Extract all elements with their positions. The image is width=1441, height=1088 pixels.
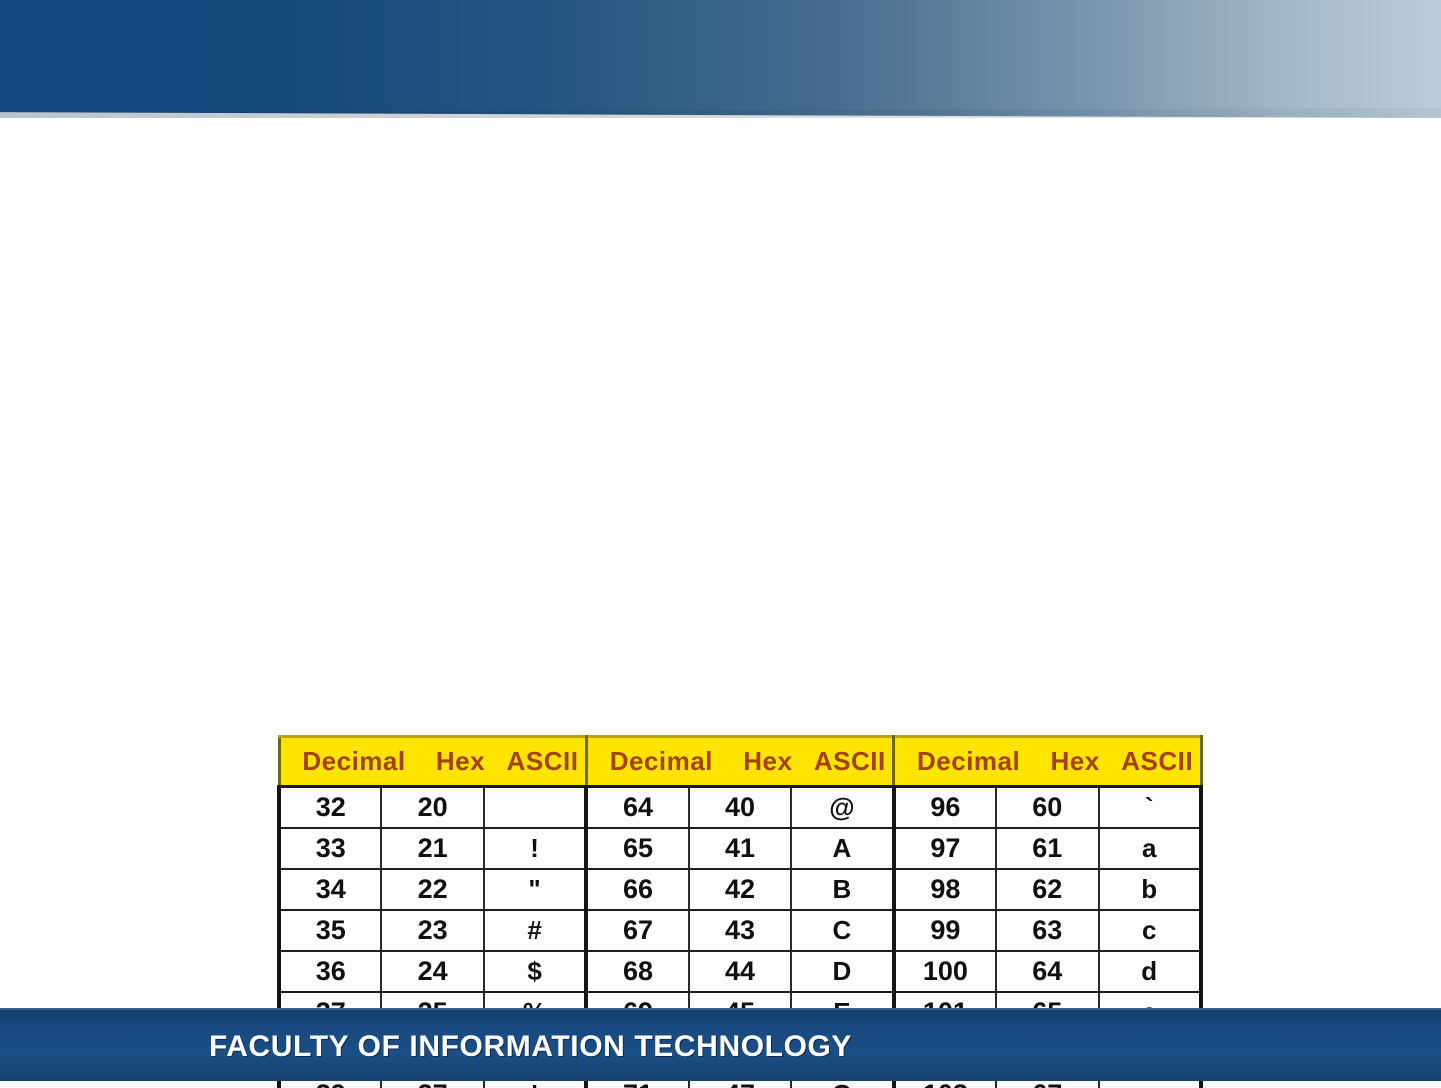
cell-block2-hex: 43: [689, 910, 791, 951]
block-3-header-decimal: Decimal: [895, 746, 1042, 777]
cell-block1-ascii: #: [484, 910, 586, 951]
block-3-header: DecimalHexASCII: [894, 737, 1201, 787]
cell-block3-hex: 64: [996, 951, 1098, 992]
cell-block1-decimal: 33: [279, 828, 381, 869]
block-2-header-ascii: ASCII: [801, 746, 899, 777]
cell-block1-hex: 22: [381, 869, 483, 910]
cell-block1-hex: 23: [381, 910, 483, 951]
block-1-header-decimal: Decimal: [281, 746, 428, 777]
cell-block3-hex: 63: [996, 910, 1098, 951]
cell-block2-ascii: B: [791, 869, 893, 910]
cell-block2-decimal: 67: [586, 910, 688, 951]
cell-block2-hex: 41: [689, 828, 791, 869]
cell-block3-ascii: d: [1099, 951, 1202, 992]
table-row: 3624$6844D10064d: [279, 951, 1201, 992]
cell-block1-hex: 24: [381, 951, 483, 992]
cell-block1-decimal: 32: [279, 787, 381, 829]
cell-block1-hex: 20: [381, 787, 483, 829]
cell-block1-ascii: ": [484, 869, 586, 910]
cell-block1-decimal: 35: [279, 910, 381, 951]
cell-block2-hex: 40: [689, 787, 791, 829]
cell-block3-decimal: 98: [894, 869, 996, 910]
cell-block2-decimal: 66: [586, 869, 688, 910]
cell-block2-decimal: 68: [586, 951, 688, 992]
cell-block3-hex: 61: [996, 828, 1098, 869]
slide-content-area: DecimalHexASCII DecimalHexASCII DecimalH…: [0, 118, 1441, 1008]
block-1-header: DecimalHexASCII: [279, 737, 586, 787]
ascii-table-header-row: DecimalHexASCII DecimalHexASCII DecimalH…: [279, 737, 1201, 787]
table-row: 3523#6743C9963c: [279, 910, 1201, 951]
header-gradient-band: [0, 0, 1441, 118]
cell-block3-decimal: 97: [894, 828, 996, 869]
cell-block3-ascii: a: [1099, 828, 1202, 869]
block-1-header-hex: Hex: [428, 746, 494, 777]
cell-block3-decimal: 96: [894, 787, 996, 829]
table-row: 32206440@9660`: [279, 787, 1201, 829]
cell-block2-ascii: D: [791, 951, 893, 992]
footer-title: FACULTY OF INFORMATION TECHNOLOGY: [0, 1030, 1441, 1064]
cell-block3-hex: 62: [996, 869, 1098, 910]
block-2-header-decimal: Decimal: [588, 746, 735, 777]
cell-block1-decimal: 34: [279, 869, 381, 910]
cell-block2-ascii: @: [791, 787, 893, 829]
cell-block3-decimal: 99: [894, 910, 996, 951]
footer-top-hairline: [0, 1008, 1441, 1010]
cell-block1-ascii: [484, 787, 586, 829]
ascii-table-header: DecimalHexASCII DecimalHexASCII DecimalH…: [279, 737, 1201, 787]
cell-block1-decimal: 36: [279, 951, 381, 992]
cell-block1-hex: 21: [381, 828, 483, 869]
cell-block2-ascii: C: [791, 910, 893, 951]
cell-block3-ascii: c: [1099, 910, 1202, 951]
cell-block2-decimal: 64: [586, 787, 688, 829]
cell-block2-hex: 44: [689, 951, 791, 992]
cell-block2-ascii: A: [791, 828, 893, 869]
cell-block1-ascii: $: [484, 951, 586, 992]
block-3-header-hex: Hex: [1042, 746, 1108, 777]
cell-block3-hex: 60: [996, 787, 1098, 829]
block-3-header-ascii: ASCII: [1108, 746, 1203, 777]
cell-block2-hex: 42: [689, 869, 791, 910]
cell-block3-ascii: b: [1099, 869, 1202, 910]
block-1-header-ascii: ASCII: [494, 746, 592, 777]
block-2-header: DecimalHexASCII: [586, 737, 893, 787]
slide-footer-banner: FACULTY OF INFORMATION TECHNOLOGY: [0, 1008, 1441, 1081]
cell-block1-ascii: !: [484, 828, 586, 869]
table-row: 3422"6642B9862b: [279, 869, 1201, 910]
cell-block3-ascii: `: [1099, 787, 1202, 829]
table-row: 3321!6541A9761a: [279, 828, 1201, 869]
slide-header-banner: [0, 0, 1441, 118]
block-2-header-hex: Hex: [735, 746, 801, 777]
cell-block2-decimal: 65: [586, 828, 688, 869]
cell-block3-decimal: 100: [894, 951, 996, 992]
